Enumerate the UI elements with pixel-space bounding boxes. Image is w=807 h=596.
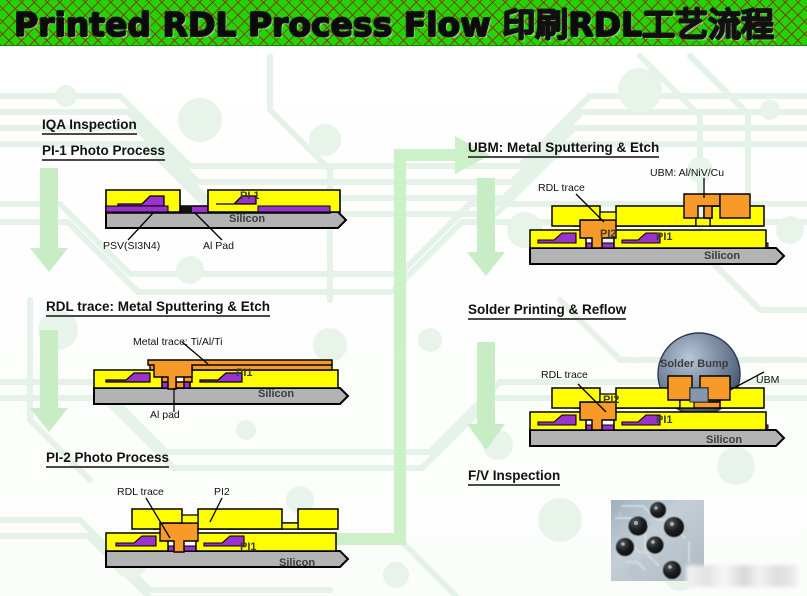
label-rdl-trace-1: RDL trace [117, 486, 164, 498]
inline-label-pi1-3: PI1 [240, 541, 257, 553]
label-ubm-al-niv-cu: UBM: Al/NiV/Cu [650, 167, 724, 179]
heading-rdl-trace-sputtering: RDL trace: Metal Sputtering & Etch [46, 299, 270, 317]
inline-label-solder-bump: Solder Bump [660, 358, 728, 370]
leader-line-pi2-label [200, 496, 240, 526]
label-rdl-trace-3: RDL trace [541, 369, 588, 381]
heading-ubm-sputtering: UBM: Metal Sputtering & Etch [468, 140, 659, 158]
flow-arrow-down-2 [30, 330, 68, 432]
slide-canvas: Printed RDL Process Flow 印刷RDL工艺流程 [0, 0, 807, 596]
flow-arrow-down-3 [467, 178, 505, 276]
leader-lines-pi2-diagram [138, 496, 198, 542]
inline-label-pi1-2: PI1 [236, 367, 253, 379]
heading-pi1-photo-process: PI-1 Photo Process [42, 143, 165, 161]
heading-pi2-photo-process: PI-2 Photo Process [46, 450, 169, 468]
label-rdl-trace-2: RDL trace [538, 182, 585, 194]
label-metal-trace-ti-al-ti: Metal trace: Ti/Al/Ti [133, 336, 222, 348]
label-pi2-1: PI2 [214, 486, 230, 498]
inline-label-silicon-1: Silicon [229, 213, 265, 225]
title-banner: Printed RDL Process Flow 印刷RDL工艺流程 [0, 0, 807, 46]
inline-label-pi1-ubm: PI1 [656, 231, 673, 243]
inline-label-silicon-3: Silicon [279, 557, 315, 569]
inline-label-silicon-2: Silicon [258, 388, 294, 400]
page-title: Printed RDL Process Flow 印刷RDL工艺流程 [14, 0, 774, 46]
flow-arrow-down-1 [30, 168, 68, 272]
heading-fv-inspection: F/V Inspection [468, 468, 560, 486]
diagram-ubm-cross-section [524, 190, 790, 268]
heading-iqa-inspection: IQA Inspection [42, 117, 137, 135]
inline-label-silicon-solder: Silicon [706, 434, 742, 446]
flow-arrow-down-4 [467, 342, 505, 450]
heading-solder-printing-reflow: Solder Printing & Reflow [468, 302, 626, 320]
flow-connector-elbow [335, 136, 490, 545]
leader-line-ubm-material [690, 178, 720, 200]
leader-line-rdl-trace-ubm [570, 192, 620, 226]
label-ubm-2: UBM [756, 374, 779, 386]
inline-label-pi2-ubm: PI2 [600, 228, 617, 240]
inline-label-pi1: PI 1 [240, 190, 260, 202]
inline-label-pi1-solder: PI1 [656, 414, 673, 426]
label-psv-si3n4: PSV(SI3N4) [103, 240, 160, 252]
label-al-pad-1: Al Pad [203, 240, 234, 252]
inline-label-silicon-ubm: Silicon [704, 250, 740, 262]
inline-label-pi2-solder: PI2 [603, 394, 620, 406]
label-al-pad-2: Al pad [150, 409, 180, 421]
redacted-watermark [686, 565, 798, 587]
